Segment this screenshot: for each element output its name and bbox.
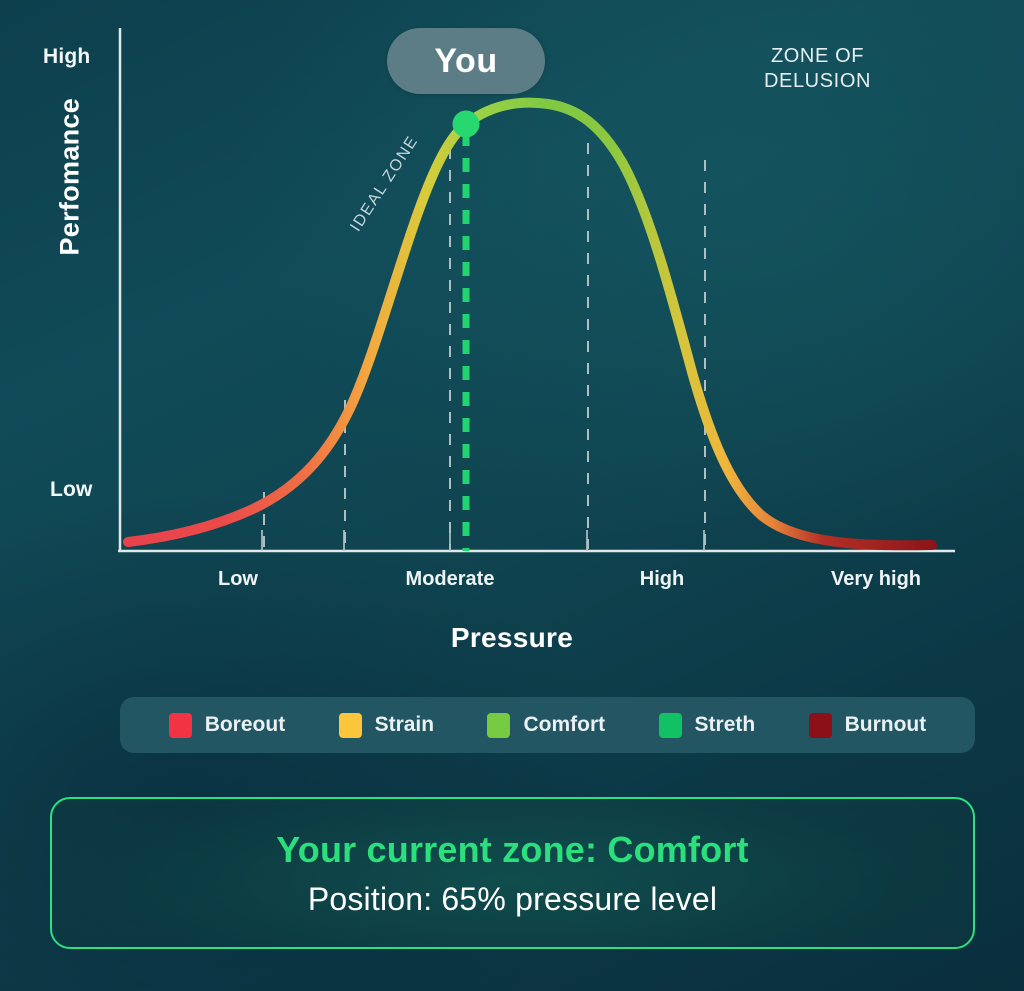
legend-item-comfort[interactable]: Comfort — [487, 713, 605, 738]
legend-item-label: Strain — [375, 713, 435, 737]
legend-swatch-icon — [487, 713, 510, 738]
legend-item-label: Comfort — [523, 713, 605, 737]
y-axis-low-label: Low — [50, 478, 93, 502]
zone-of-delusion-line2: DELUSION — [700, 69, 935, 94]
y-axis-high-label: High — [43, 45, 90, 69]
x-tick-label-very-high: Very high — [831, 568, 921, 591]
legend-swatch-icon — [809, 713, 832, 738]
legend-swatch-icon — [659, 713, 682, 738]
legend-item-boreout[interactable]: Boreout — [169, 713, 286, 738]
you-marker-dot[interactable] — [453, 111, 480, 138]
zone-of-delusion-line1: ZONE OF — [700, 44, 935, 69]
current-position-text: Position: 65% pressure level — [308, 881, 717, 918]
x-axis-ticks — [262, 530, 704, 551]
legend-item-strain[interactable]: Strain — [339, 713, 435, 738]
legend-item-streth[interactable]: Streth — [659, 713, 756, 738]
current-zone-text: Your current zone: Comfort — [276, 829, 749, 871]
zone-legend: Boreout Strain Comfort Streth Burnout — [120, 697, 975, 753]
legend-item-label: Boreout — [205, 713, 286, 737]
performance-curve — [128, 103, 932, 546]
legend-item-burnout[interactable]: Burnout — [809, 713, 927, 738]
legend-item-label: Burnout — [845, 713, 927, 737]
x-tick-label-moderate: Moderate — [406, 568, 495, 591]
zone-of-delusion-annotation: ZONE OF DELUSION — [700, 44, 935, 94]
x-axis-title: Pressure — [0, 622, 1024, 654]
y-axis-title: Perfomance — [55, 116, 86, 256]
legend-swatch-icon — [339, 713, 362, 738]
x-tick-label-high: High — [640, 568, 684, 591]
legend-swatch-icon — [169, 713, 192, 738]
legend-item-label: Streth — [695, 713, 756, 737]
infographic-root: High Low Perfomance Low Moderate High Ve… — [0, 0, 1024, 991]
current-zone-callout: Your current zone: Comfort Position: 65%… — [50, 797, 975, 949]
you-badge-label: You — [434, 42, 497, 81]
you-badge[interactable]: You — [387, 28, 545, 94]
x-tick-label-low: Low — [218, 568, 258, 591]
performance-pressure-chart: High Low Perfomance Low Moderate High Ve… — [0, 0, 1024, 670]
